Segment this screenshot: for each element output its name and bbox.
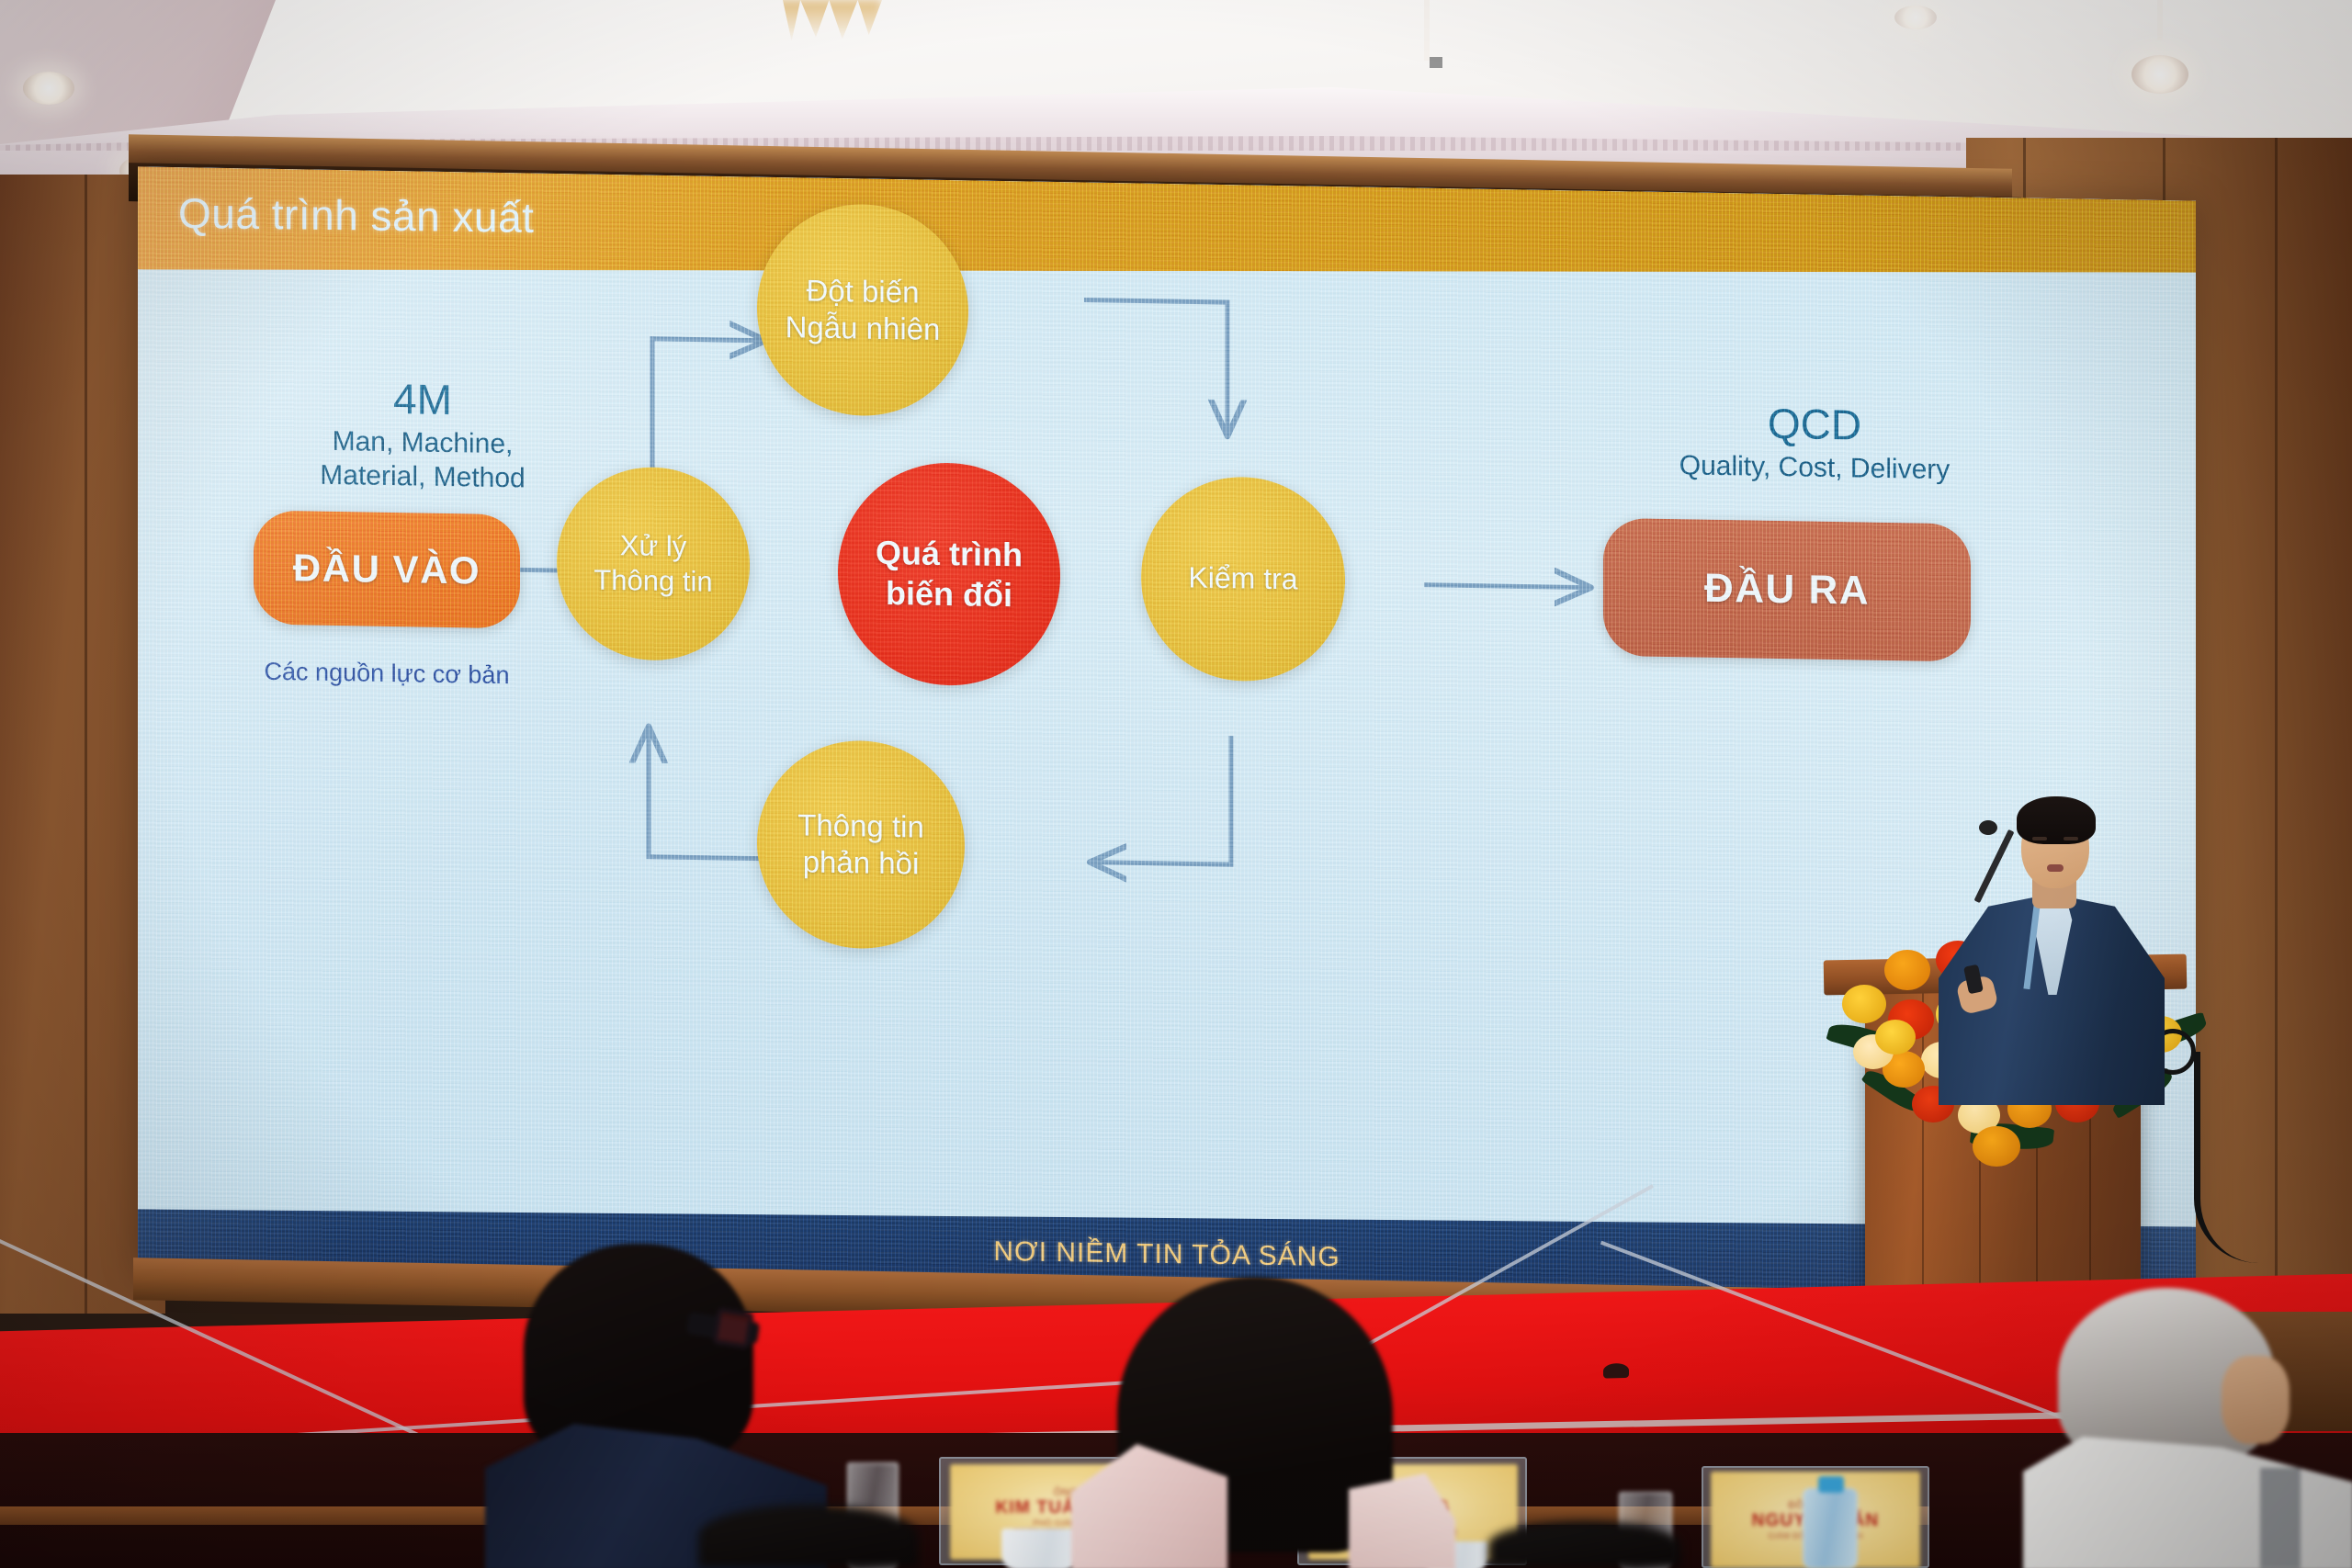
flower-orange	[1884, 950, 1930, 990]
node-left-line2: Thông tin	[594, 563, 712, 600]
wall-panel-seam	[85, 175, 87, 1314]
audience-white-shirt	[2023, 1437, 2352, 1568]
audience-member-woman	[1073, 1277, 1450, 1568]
speaker-hair	[2017, 796, 2096, 844]
input-subheading-line2: Material, Method	[239, 457, 606, 497]
node-bottom-line1: Thông tin	[797, 807, 924, 846]
audience-lanyard	[2260, 1468, 2301, 1568]
node-top-line1: Đột biến	[807, 272, 920, 310]
audience-face	[2222, 1356, 2290, 1444]
input-heading-group: 4M Man, Machine, Material, Method	[239, 370, 606, 497]
node-input: ĐẦU VÀO	[254, 511, 520, 629]
node-right-line1: Kiểm tra	[1188, 560, 1297, 598]
audience-head-foreground	[698, 1505, 919, 1568]
hanger-bracket	[1430, 57, 1442, 68]
recessed-ceiling-light	[2131, 55, 2188, 94]
node-bottom-line2: phản hồi	[803, 843, 920, 882]
output-subheading: Quality, Cost, Delivery	[1599, 447, 2030, 489]
input-heading: 4M	[239, 370, 606, 429]
cable-run	[2194, 1052, 2352, 1263]
connector-top-to-right	[1084, 300, 1227, 434]
output-heading: QCD	[1599, 395, 2030, 455]
connector-right-to-bottom	[1093, 734, 1231, 864]
audience-hair	[524, 1244, 753, 1464]
flower-orange	[1973, 1126, 2020, 1167]
input-caption: Các nguồn lực cơ bản	[244, 657, 529, 690]
output-heading-group: QCD Quality, Cost, Delivery	[1599, 395, 2030, 489]
node-center-line2: biến đổi	[886, 573, 1012, 615]
flower-yellow	[1875, 1020, 1916, 1055]
microphone-head	[1979, 820, 1997, 835]
connector-left-to-top	[652, 339, 763, 471]
conference-hall-photo: Quá trình sản xuất	[0, 0, 2352, 1568]
audience-member-man-right	[2030, 1288, 2352, 1568]
speaker-eye-left	[2032, 837, 2047, 840]
node-center-line1: Quá trình	[876, 533, 1023, 576]
floor-cable-grommet	[1603, 1363, 1629, 1379]
node-process-information: Xử lý Thông tin	[557, 466, 750, 661]
hanger-rod-2	[2157, 0, 2163, 40]
connector-bottom-to-left	[649, 730, 761, 859]
node-top-line2: Ngẫu nhiên	[786, 309, 941, 348]
connector-right-to-output	[1424, 585, 1588, 588]
projector-hanger-rod	[1424, 0, 1430, 61]
recessed-ceiling-light	[23, 72, 74, 105]
eyeglass-lens	[712, 1307, 754, 1349]
paper-cup	[1001, 1529, 1079, 1568]
node-output: ĐẦU RA	[1603, 518, 1971, 662]
speaker-at-podium	[1929, 785, 2168, 1098]
speaker-mouth	[2047, 864, 2064, 872]
flower-yellow	[1842, 985, 1886, 1023]
node-left-line1: Xử lý	[620, 528, 686, 564]
audience-shoulder	[1349, 1473, 1455, 1568]
water-bottle	[1803, 1488, 1858, 1568]
audience-head-foreground	[1488, 1521, 1681, 1568]
bottle-cap	[1818, 1476, 1844, 1493]
speaker-eye-right	[2064, 837, 2078, 840]
recessed-ceiling-light	[1894, 6, 1937, 29]
